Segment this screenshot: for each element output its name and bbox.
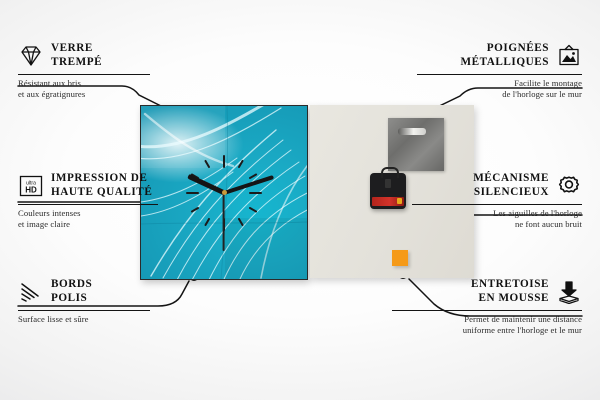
feature-verre-trempe: VERRE TREMPÉ Résistant aux bris et aux é… (18, 42, 168, 100)
clock-center-hub (222, 190, 227, 195)
polished-edges-icon (18, 280, 44, 304)
feature-title-line1: VERRE (51, 42, 102, 56)
battery (372, 197, 404, 206)
infographic-canvas: VERRE TREMPÉ Résistant aux bris et aux é… (0, 0, 600, 400)
feature-title-line2: MÉTALLIQUES (460, 56, 549, 70)
feature-title-line2: POLIS (51, 292, 92, 306)
feature-title-line2: EN MOUSSE (471, 292, 549, 306)
feature-subtitle-line1: Résistant aux bris (18, 75, 168, 89)
feature-subtitle-line2: uniforme entre l'horloge et le mur (392, 325, 582, 336)
svg-text:HD: HD (25, 185, 37, 194)
feature-title-line1: MÉCANISME (473, 172, 549, 186)
diamond-icon (18, 44, 44, 68)
feature-subtitle-line1: Les aiguilles de l'horloge (412, 205, 582, 219)
feature-title-line1: BORDS (51, 278, 92, 292)
hanger-slot (398, 128, 426, 135)
feature-subtitle-line2: ne font aucun bruit (412, 219, 582, 230)
feature-poignees-metalliques: POIGNÉES MÉTALLIQUES Facilite le montage… (417, 42, 582, 100)
mechanism-hook (381, 167, 399, 178)
picture-hanger-icon (556, 44, 582, 68)
mechanism-shaft (385, 179, 391, 188)
feature-mecanisme-silencieux: MÉCANISME SILENCIEUX Les aiguilles de l'… (412, 172, 582, 230)
metal-hanger-plate (388, 118, 444, 171)
feature-subtitle-line2: et image claire (18, 219, 178, 230)
feature-title-line2: HAUTE QUALITÉ (51, 186, 152, 200)
feature-impression-haute-qualite: ultra HD IMPRESSION DE HAUTE QUALITÉ Cou… (18, 172, 178, 230)
foam-spacer (392, 250, 408, 266)
feature-title-line2: TREMPÉ (51, 56, 102, 70)
feature-title-line1: IMPRESSION DE (51, 172, 152, 186)
feature-subtitle-line1: Facilite le montage (417, 75, 582, 89)
feature-entretoise-en-mousse: ENTRETOISE EN MOUSSE Permet de maintenir… (392, 278, 582, 336)
feature-subtitle-line1: Surface lisse et sûre (18, 311, 168, 325)
feature-title-line2: SILENCIEUX (473, 186, 549, 200)
feature-bords-polis: BORDS POLIS Surface lisse et sûre (18, 278, 168, 325)
clock-mechanism (370, 173, 406, 209)
feature-title-line1: POIGNÉES (460, 42, 549, 56)
clock-second-hand (223, 193, 225, 251)
feature-title-line1: ENTRETOISE (471, 278, 549, 292)
feature-subtitle-line2: de l'horloge sur le mur (417, 89, 582, 100)
gear-icon (556, 174, 582, 198)
feature-subtitle-line1: Permet de maintenir une distance (392, 311, 582, 325)
ultra-hd-icon: ultra HD (18, 174, 44, 198)
foam-spacer-icon (556, 280, 582, 304)
feature-subtitle-line1: Couleurs intenses (18, 205, 178, 219)
feature-subtitle-line2: et aux égratignures (18, 89, 168, 100)
